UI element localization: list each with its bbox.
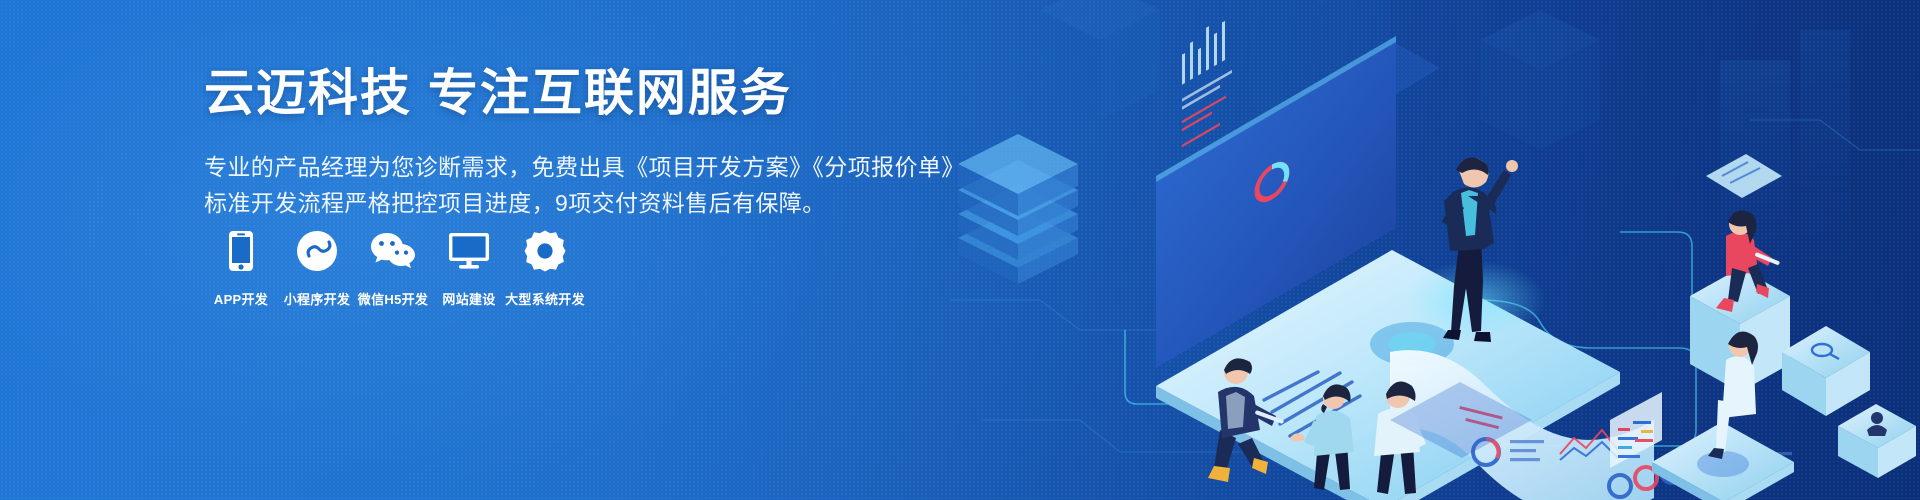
- banner-subtitle: 专业的产品经理为您诊断需求，免费出具《项目开发方案》《分项报价单》 标准开发流程…: [204, 149, 924, 221]
- service-item-large-system[interactable]: 大型系统开发: [508, 228, 582, 308]
- subtitle-line-2: 标准开发流程严格把控项目进度，9项交付资料售后有保障。: [204, 185, 924, 221]
- service-item-app[interactable]: APP开发: [204, 228, 278, 308]
- monitor-icon: [448, 228, 490, 274]
- service-label: 小程序开发: [284, 289, 351, 308]
- subtitle-line-1: 专业的产品经理为您诊断需求，免费出具《项目开发方案》《分项报价单》: [204, 149, 924, 185]
- service-label: APP开发: [214, 289, 268, 308]
- code-card: [1610, 392, 1662, 468]
- banner-copy: 云迈科技 专注互联网服务 专业的产品经理为您诊断需求，免费出具《项目开发方案》《…: [204, 64, 924, 221]
- search-block: [1782, 326, 1870, 416]
- stacked-blocks: [958, 134, 1078, 284]
- service-item-mini-program[interactable]: 小程序开发: [280, 228, 354, 308]
- mini-program-icon: [296, 228, 338, 274]
- promo-banner: 云迈科技 专注互联网服务 专业的产品经理为您诊断需求，免费出具《项目开发方案》《…: [0, 0, 1920, 500]
- service-label: 大型系统开发: [505, 289, 585, 308]
- person-block: [1838, 404, 1916, 478]
- page-title: 云迈科技 专注互联网服务: [204, 64, 924, 123]
- wechat-icon: [370, 228, 416, 274]
- service-item-wechat-h5[interactable]: 微信H5开发: [356, 228, 430, 308]
- service-item-website[interactable]: 网站建设: [432, 228, 506, 308]
- service-label: 微信H5开发: [358, 289, 428, 308]
- service-label: 网站建设: [442, 289, 495, 308]
- gear-icon: [524, 228, 566, 274]
- mobile-phone-icon: [228, 228, 254, 274]
- service-icon-list: APP开发 小程序开发 微信: [204, 228, 584, 308]
- hero-illustration: [920, 0, 1920, 500]
